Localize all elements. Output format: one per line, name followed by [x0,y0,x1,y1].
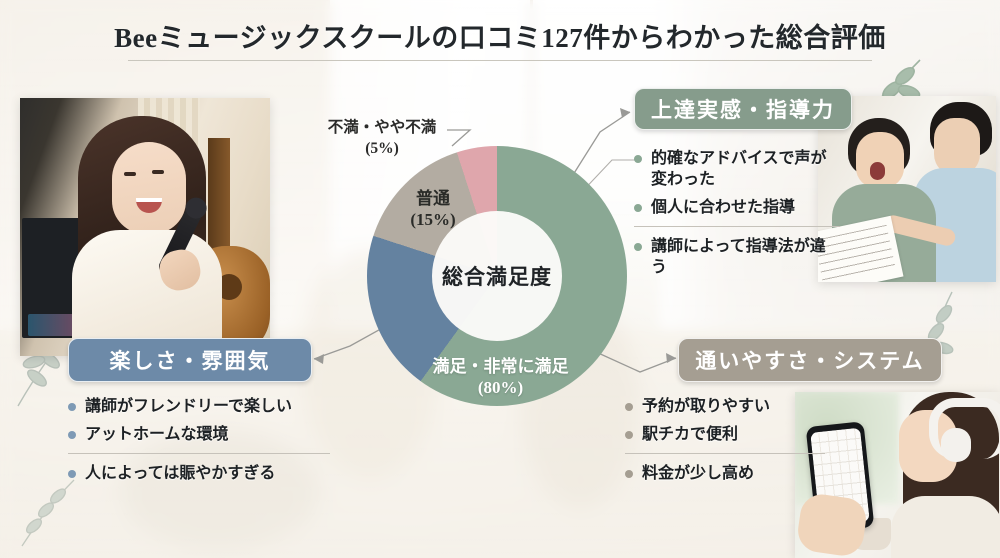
category-bullets-growth: 的確なアドバイスで声が変わった 個人に合わせた指導 講師によって指導法が違う [634,148,840,286]
category-heading-growth-label: 上達実感・指導力 [651,94,835,124]
donut-label-unsatisfied: 不満・やや不満 (5%) [312,118,452,160]
bullet-dot-icon [634,155,642,163]
bullet-text: 講師によって指導法が違う [651,236,840,278]
page-title: Beeミュージックスクールの口コミ127件からわかった総合評価 [0,16,1000,55]
category-heading-access[interactable]: 通いやすさ・システム [678,338,942,382]
title-divider [128,60,872,61]
category-bullets-fun: 講師がフレンドリーで楽しい アットホームな環境 人によっては賑やかすぎる [68,396,330,491]
bullets-divider [68,453,330,454]
photo-student-mouth [870,162,885,180]
photo-hand [795,492,868,558]
list-item: 個人に合わせた指導 [634,197,840,218]
bullet-dot-icon [68,403,76,411]
bullets-divider [634,226,840,227]
bullet-dot-icon [625,470,633,478]
list-item: 人によっては賑やかすぎる [68,463,330,484]
photo-face [112,142,186,234]
photo-eye [152,170,164,174]
photo-woman-singing [20,98,270,356]
donut-label-normal: 普通 (15%) [396,188,470,231]
category-heading-fun-label: 楽しさ・雰囲気 [110,345,271,375]
bullet-dot-icon [634,204,642,212]
donut-label-unsatisfied-pct: (5%) [312,139,452,160]
list-item: 予約が取りやすい [625,396,825,417]
bullet-text: 予約が取りやすい [642,396,770,417]
page-title-container: Beeミュージックスクールの口コミ127件からわかった総合評価 [0,16,1000,55]
infographic-canvas: Beeミュージックスクールの口コミ127件からわかった総合評価 [0,0,1000,558]
donut-center: 総合満足度 [432,211,562,341]
category-heading-growth[interactable]: 上達実感・指導力 [634,88,852,130]
bullet-text: 料金が少し高め [642,463,754,484]
donut-label-normal-pct: (15%) [396,209,470,230]
list-item: 駅チカで便利 [625,424,825,445]
donut-label-satisfied: 満足・非常に満足 (80%) [408,356,593,399]
donut-center-label: 総合満足度 [442,261,552,291]
bullets-divider [625,453,825,454]
bullet-text: 的確なアドバイスで声が変わった [651,148,840,190]
donut-label-satisfied-text: 満足・非常に満足 [408,356,593,377]
list-item: 講師によって指導法が違う [634,236,840,278]
photo-student-face [856,132,904,188]
category-heading-fun[interactable]: 楽しさ・雰囲気 [68,338,312,382]
bullet-dot-icon [625,403,633,411]
bullet-text: 駅チカで便利 [642,424,738,445]
guitar-neck [208,138,230,258]
headphone-cup-icon [941,428,971,462]
list-item: 的確なアドバイスで声が変わった [634,148,840,190]
list-item: アットホームな環境 [68,424,330,445]
photo-body [891,496,1000,558]
donut-label-satisfied-pct: (80%) [408,377,593,398]
bullet-dot-icon [68,431,76,439]
bullet-text: 講師がフレンドリーで楽しい [85,396,292,417]
photo-woman-phone [795,392,1000,558]
bullet-text: 個人に合わせた指導 [651,197,795,218]
photo-eye [124,172,136,176]
list-item: 料金が少し高め [625,463,825,484]
bullet-dot-icon [634,243,642,251]
bullet-dot-icon [68,470,76,478]
donut-label-normal-text: 普通 [396,188,470,209]
bullet-dot-icon [625,431,633,439]
category-heading-access-label: 通いやすさ・システム [695,345,924,375]
list-item: 講師がフレンドリーで楽しい [68,396,330,417]
bullet-text: 人によっては賑やかすぎる [85,463,275,484]
category-bullets-access: 予約が取りやすい 駅チカで便利 料金が少し高め [625,396,825,491]
donut-label-unsatisfied-text: 不満・やや不満 [312,118,452,139]
bullet-text: アットホームな環境 [85,424,229,445]
